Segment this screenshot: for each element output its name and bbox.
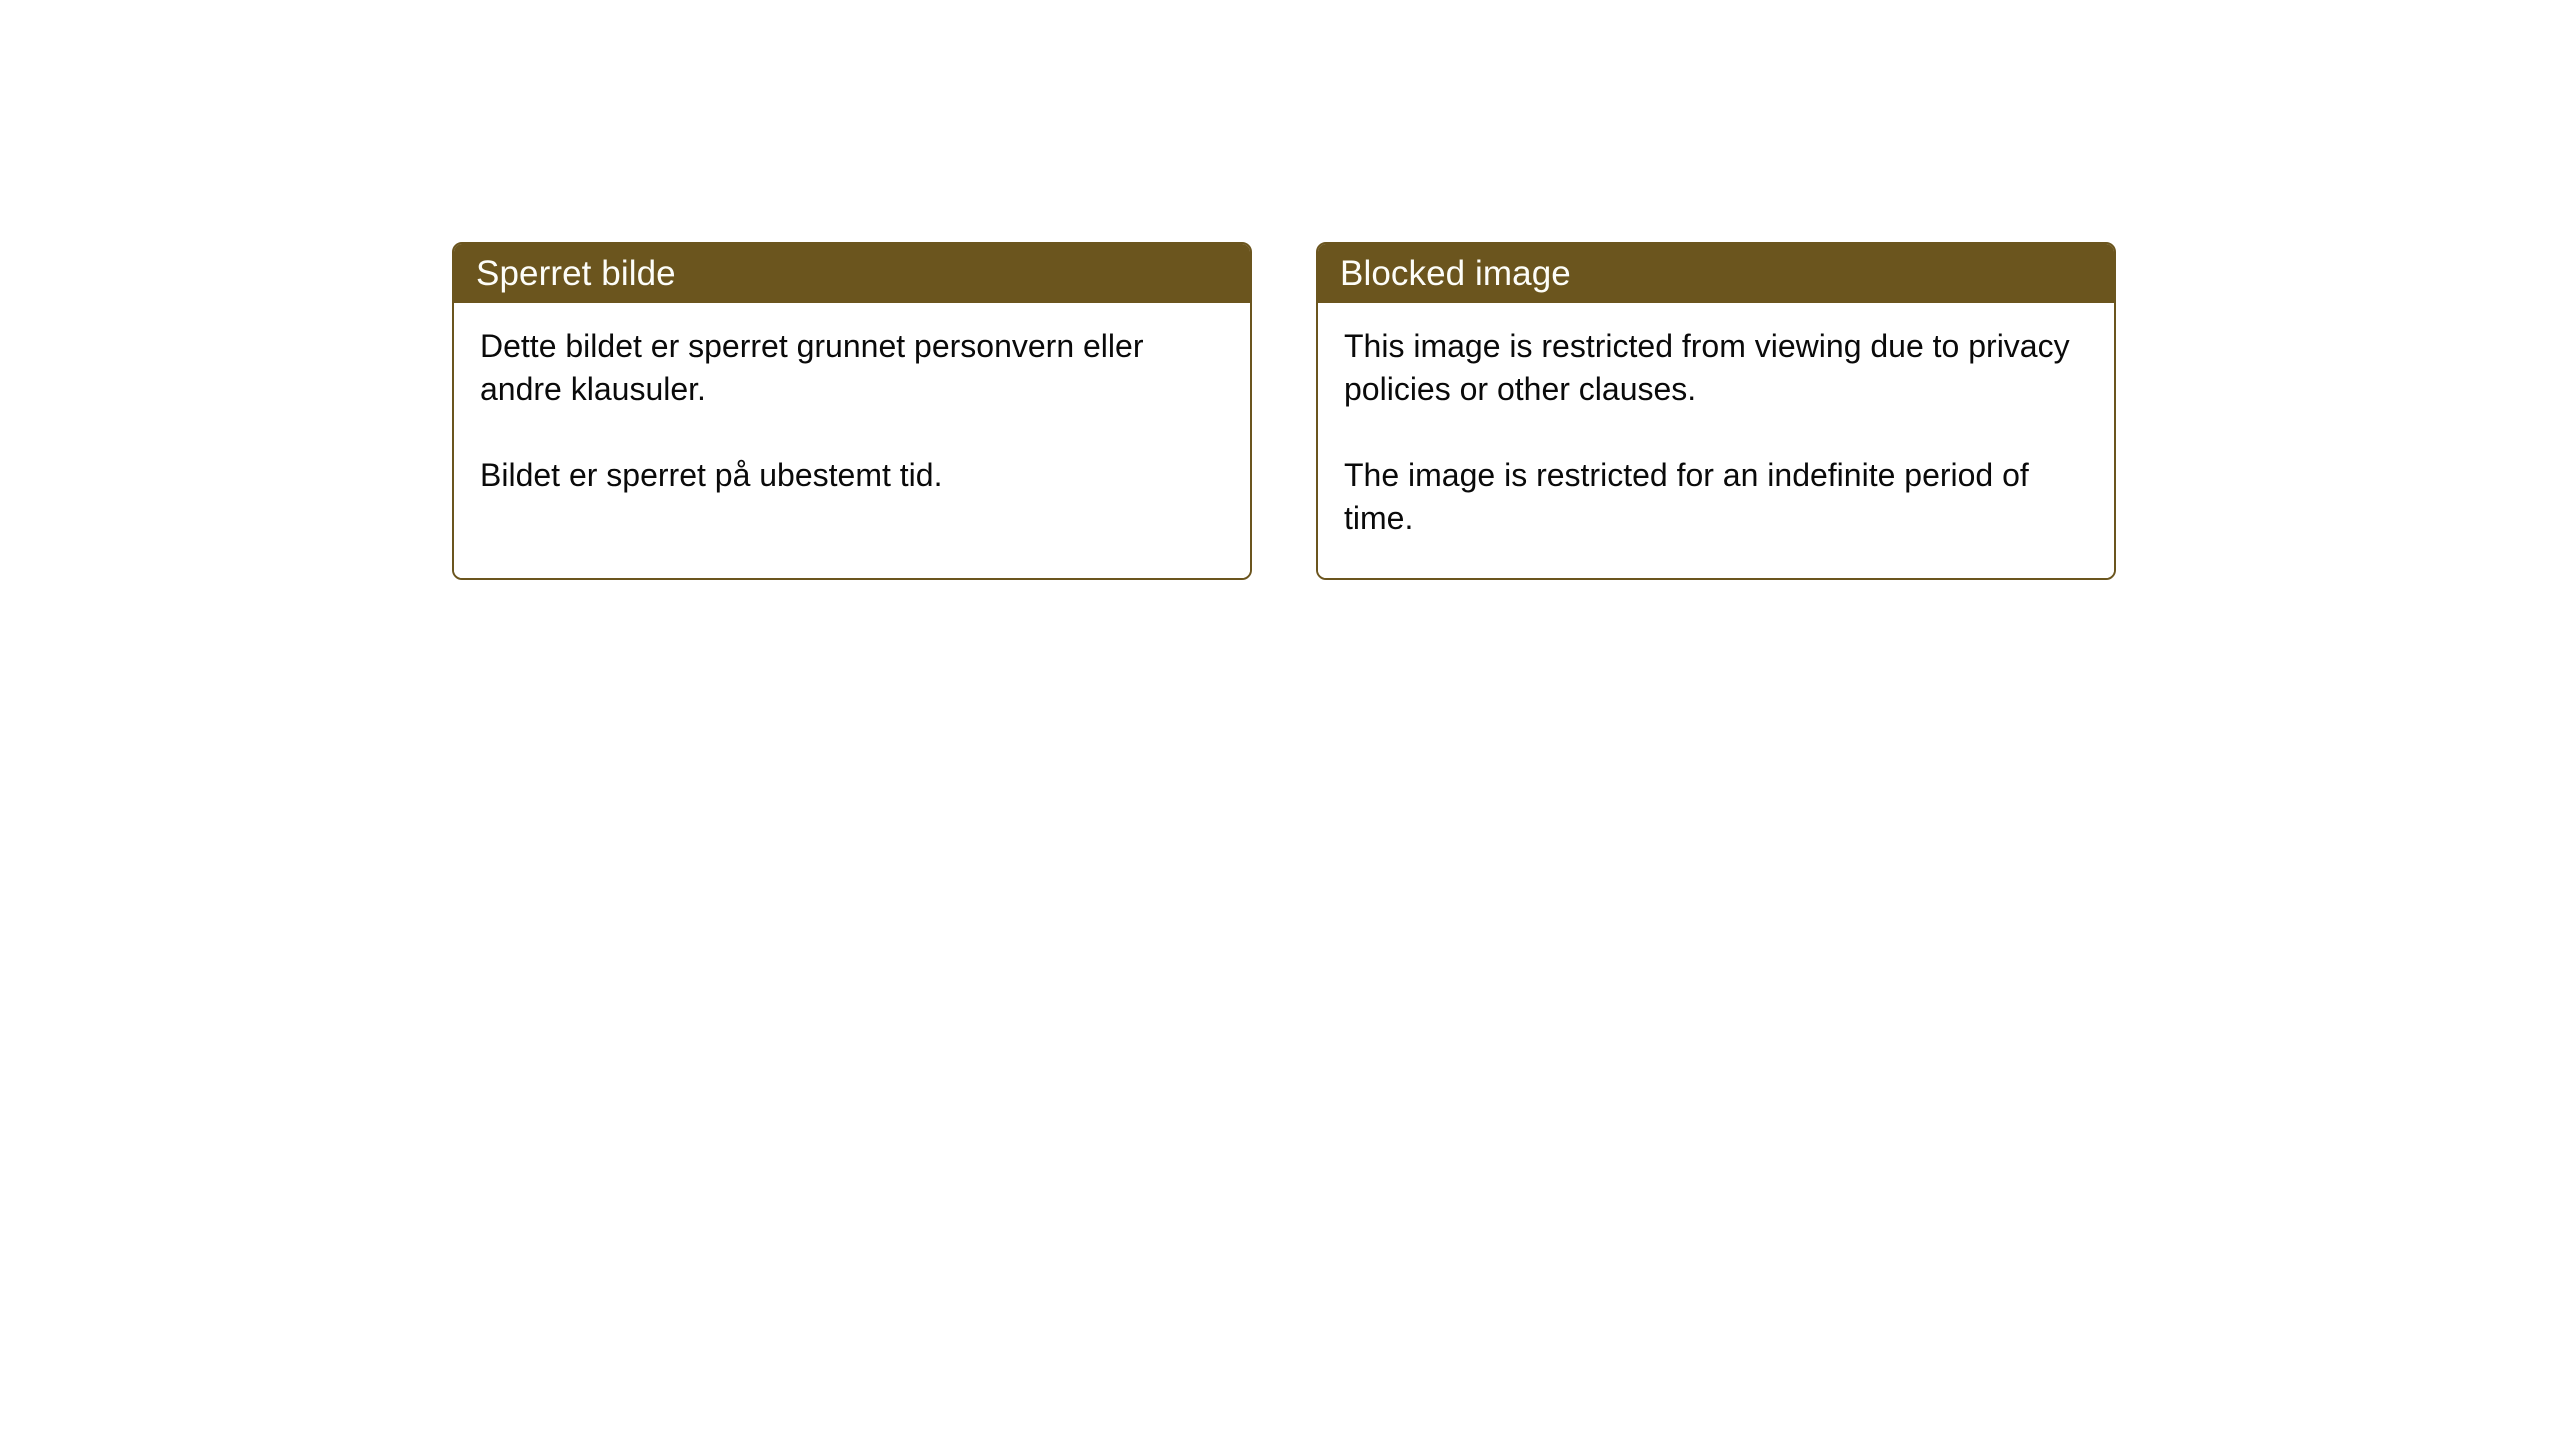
card-title-en: Blocked image xyxy=(1340,253,1571,294)
notice-cards-row: Sperret bilde Dette bildet er sperret gr… xyxy=(452,242,2116,580)
card-paragraph: Bildet er sperret på ubestemt tid. xyxy=(480,454,1224,497)
card-paragraph: Dette bildet er sperret grunnet personve… xyxy=(480,325,1224,411)
blocked-image-notice-card-no: Sperret bilde Dette bildet er sperret gr… xyxy=(452,242,1252,580)
page-root: Sperret bilde Dette bildet er sperret gr… xyxy=(0,0,2560,1440)
card-title-no: Sperret bilde xyxy=(476,253,676,294)
card-header-en: Blocked image xyxy=(1318,244,2114,303)
card-body-no: Dette bildet er sperret grunnet personve… xyxy=(454,303,1250,578)
card-paragraph: The image is restricted for an indefinit… xyxy=(1344,454,2088,540)
card-header-no: Sperret bilde xyxy=(454,244,1250,303)
blocked-image-notice-card-en: Blocked image This image is restricted f… xyxy=(1316,242,2116,580)
card-body-en: This image is restricted from viewing du… xyxy=(1318,303,2114,578)
card-paragraph: This image is restricted from viewing du… xyxy=(1344,325,2088,411)
